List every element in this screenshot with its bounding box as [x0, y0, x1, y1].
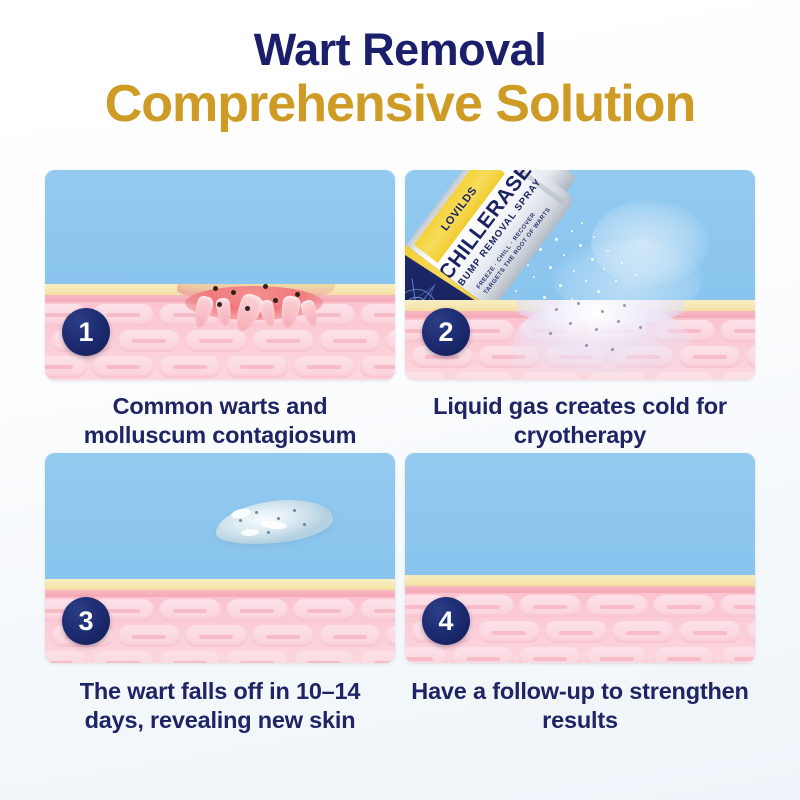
page-title: Wart Removal Comprehensive Solution	[0, 0, 800, 133]
skin-cell	[452, 647, 514, 663]
sky-background	[45, 170, 395, 294]
epidermis-layer	[405, 575, 755, 586]
steps-grid: 1 Common warts and molluscum contagiosum	[45, 170, 755, 735]
sky-background	[405, 453, 755, 575]
spray-particle	[593, 236, 595, 238]
title-line-primary: Wart Removal	[0, 26, 800, 73]
skin-cell	[319, 625, 381, 647]
step-card-2: LOVILDS CHILLERASE BUMP REMOVAL SPRAY FR…	[405, 170, 755, 449]
step-caption-1: Common warts and molluscum contagiosum	[45, 392, 395, 449]
skin-cell	[45, 651, 87, 663]
frost-speck	[585, 344, 588, 347]
skin-cell	[159, 356, 221, 378]
skin-cell	[45, 356, 87, 378]
step-illustration-2: LOVILDS CHILLERASE BUMP REMOVAL SPRAY FR…	[405, 170, 755, 380]
title-line-secondary: Comprehensive Solution	[0, 75, 800, 133]
skin-cell	[746, 621, 755, 643]
skin-cell-row	[405, 647, 755, 663]
frost-speck	[617, 320, 620, 323]
granular-layer	[45, 590, 395, 597]
skin-cell	[519, 595, 581, 617]
skin-cell	[545, 621, 607, 643]
spray-particle	[559, 284, 562, 287]
capillary-dot	[245, 306, 250, 311]
step-card-4: 4 Have a follow-up to strengthen results	[405, 453, 755, 734]
step-card-3: 3 The wart falls off in 10–14 days, reve…	[45, 453, 395, 734]
skin-cell-row	[45, 356, 395, 380]
step-number-badge-4: 4	[422, 597, 470, 645]
spray-particle	[515, 290, 517, 292]
capillary-dot	[273, 298, 278, 303]
spray-particle	[635, 274, 637, 276]
spray-particle	[597, 290, 600, 293]
skin-cell	[452, 372, 514, 380]
epidermis-layer	[45, 579, 395, 590]
frost-speck	[623, 304, 626, 307]
skin-cell	[252, 625, 314, 647]
skin-cell	[405, 647, 447, 663]
frost-speck	[549, 332, 552, 335]
skin-cell	[118, 330, 180, 352]
skin-cell	[679, 621, 741, 643]
skin-cell	[746, 346, 755, 368]
spray-particle	[573, 270, 575, 272]
capillary-dot	[295, 292, 300, 297]
skin-cell	[720, 647, 755, 663]
skin-cell-row	[45, 651, 395, 663]
frost-speck	[555, 308, 558, 311]
skin-cell	[226, 356, 288, 378]
spray-particle	[571, 230, 573, 232]
frost-speck	[595, 328, 598, 331]
capillary-dot	[231, 290, 236, 295]
skin-cell	[519, 647, 581, 663]
skin-cell	[360, 304, 395, 326]
skin-cell	[92, 651, 154, 663]
skin-cell	[653, 647, 715, 663]
skin-cell	[720, 595, 755, 617]
step-card-1: 1 Common warts and molluscum contagiosum	[45, 170, 395, 449]
skin-cell	[226, 599, 288, 621]
skin-cell	[612, 621, 674, 643]
skin-cell	[405, 372, 447, 380]
skin-cell	[586, 595, 648, 617]
step-caption-3: The wart falls off in 10–14 days, reveal…	[45, 677, 395, 734]
spray-particle	[581, 222, 583, 224]
skin-cell	[252, 330, 314, 352]
capillary-dot	[263, 284, 268, 289]
frost-speck	[611, 348, 614, 351]
skin-cell	[226, 651, 288, 663]
frost-speck	[601, 310, 604, 313]
frost-speck	[577, 302, 580, 305]
skin-cell	[720, 372, 755, 380]
spray-particle	[549, 266, 552, 269]
skin-cell	[159, 599, 221, 621]
spray-particle	[603, 268, 605, 270]
sky-background	[45, 453, 395, 579]
skin-cell	[293, 356, 355, 378]
capillary-dot	[217, 302, 222, 307]
spray-particle	[607, 250, 609, 252]
skin-cell	[293, 651, 355, 663]
skin-cell	[360, 651, 395, 663]
spray-particle	[579, 244, 582, 247]
step-number-badge-2: 2	[422, 308, 470, 356]
spray-particle	[533, 276, 535, 278]
frost-speck	[569, 322, 572, 325]
step-number-badge-1: 1	[62, 308, 110, 356]
skin-cell	[118, 625, 180, 647]
spray-particle	[585, 280, 587, 282]
capillary-dot	[213, 286, 218, 291]
spray-particle	[615, 280, 617, 282]
spray-particle	[539, 248, 542, 251]
skin-cell	[185, 330, 247, 352]
skin-cell	[293, 599, 355, 621]
spray-particle	[563, 254, 565, 256]
spray-particle	[591, 258, 594, 261]
step-illustration-3: 3	[45, 453, 395, 663]
spray-particle	[621, 262, 623, 264]
spray-particle	[527, 264, 529, 266]
frost-speck	[639, 326, 642, 329]
spray-particle	[543, 296, 546, 299]
skin-cell	[360, 356, 395, 378]
step-number-badge-3: 3	[62, 597, 110, 645]
skin-cell	[720, 320, 755, 342]
step-illustration-1: 1	[45, 170, 395, 380]
skin-cell	[360, 599, 395, 621]
skin-cell	[185, 625, 247, 647]
skin-cell	[159, 651, 221, 663]
step-illustration-4: 4	[405, 453, 755, 663]
skin-cell	[92, 356, 154, 378]
step-caption-4: Have a follow-up to strengthen results	[405, 677, 755, 734]
skin-cell	[386, 330, 395, 352]
skin-cell	[478, 621, 540, 643]
skin-cell	[653, 595, 715, 617]
skin-cell	[386, 625, 395, 647]
granular-layer	[405, 586, 755, 593]
step-caption-2: Liquid gas creates cold for cryotherapy	[405, 392, 755, 449]
skin-cell	[319, 330, 381, 352]
spray-particle	[555, 238, 558, 241]
skin-cell	[586, 647, 648, 663]
